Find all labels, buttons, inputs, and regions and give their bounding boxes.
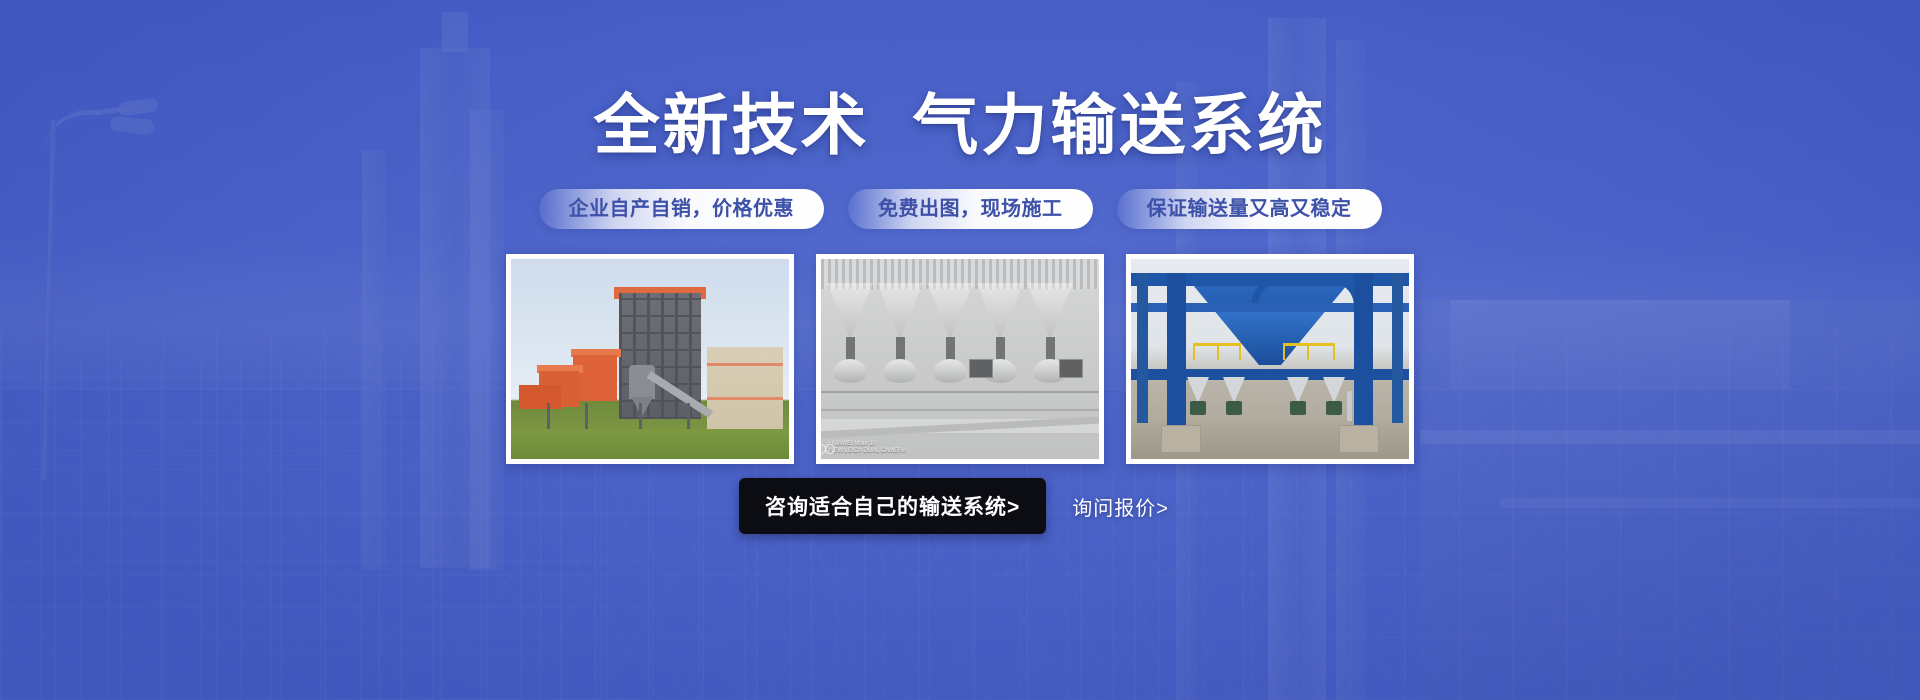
- p1-silo-cone: [631, 397, 653, 417]
- banner-content: 全新技术 气力输送系统 企业自产自销，价格优惠 免费出图，现场施工 保证输送量又…: [0, 0, 1920, 700]
- p3-yellow-post-5: [1307, 343, 1309, 360]
- request-quote-link[interactable]: 询问报价>: [1060, 479, 1181, 534]
- p2-handrail-lower: [821, 409, 1099, 411]
- leica-ring-icon-2: [825, 444, 835, 454]
- p2-send-vessel-3: [933, 359, 967, 383]
- p3-blue-column-left: [1167, 273, 1186, 425]
- p2-valve-1: [846, 337, 855, 361]
- p3-yellow-post-3: [1239, 343, 1241, 360]
- p3-yellow-post-4: [1283, 343, 1285, 360]
- feature-pill-row: 企业自产自销，价格优惠 免费出图，现场施工 保证输送量又高又稳定: [0, 189, 1920, 229]
- p2-hopper-2: [877, 283, 923, 339]
- p1-support-leg-4: [687, 403, 690, 429]
- p1-building-stripe-2: [707, 397, 783, 400]
- p2-send-vessel-1: [833, 359, 867, 383]
- p2-hopper-4: [977, 283, 1023, 339]
- p3-blue-column-right-outer: [1392, 273, 1403, 423]
- feature-pill-1[interactable]: 企业自产自销，价格优惠: [539, 189, 825, 229]
- p3-yellow-rail-right: [1283, 343, 1335, 346]
- p3-footing-left: [1161, 425, 1201, 453]
- p2-valve-4: [996, 337, 1005, 361]
- p2-send-vessel-2: [883, 359, 917, 383]
- p2-hopper-1: [827, 283, 873, 339]
- banner-headline: 全新技术 气力输送系统: [0, 92, 1920, 158]
- gallery-photo-2-image: HUAWEI Mate 10 NEW LEICA DUAL CAMERA: [821, 259, 1099, 459]
- consult-system-button[interactable]: 咨询适合自己的输送系统>: [739, 478, 1046, 534]
- p2-watermark-line-2: NEW LEICA DUAL CAMERA: [829, 448, 906, 455]
- p2-control-panel-2: [1059, 359, 1083, 378]
- feature-pill-2[interactable]: 免费出图，现场施工: [848, 189, 1093, 229]
- p2-valve-5: [1046, 337, 1055, 361]
- gallery-photo-1[interactable]: [506, 254, 794, 464]
- p2-hopper-3: [927, 283, 973, 339]
- p3-yellow-post-2: [1217, 343, 1219, 360]
- gallery-photo-1-image: [511, 259, 789, 459]
- p1-orange-hopper-1: [573, 355, 617, 401]
- p1-orange-hopper-3: [519, 385, 561, 409]
- p3-yellow-post-6: [1333, 343, 1335, 360]
- cta-row: 咨询适合自己的输送系统> 询问报价>: [0, 478, 1920, 534]
- photo-gallery: HUAWEI Mate 10 NEW LEICA DUAL CAMERA: [0, 254, 1920, 464]
- p2-watermark-line-1: HUAWEI Mate 10: [829, 441, 906, 448]
- gallery-photo-3-image: [1131, 259, 1409, 459]
- p3-discharge-cone-4: [1323, 377, 1345, 403]
- p2-valve-3: [946, 337, 955, 361]
- p3-yellow-post-1: [1193, 343, 1195, 360]
- p2-hopper-5: [1027, 283, 1073, 339]
- p3-motor-3: [1290, 401, 1306, 415]
- p3-blue-column-right: [1354, 273, 1373, 425]
- p1-support-leg-2: [585, 403, 588, 429]
- p3-motor-2: [1226, 401, 1242, 415]
- gallery-photo-2[interactable]: HUAWEI Mate 10 NEW LEICA DUAL CAMERA: [816, 254, 1104, 464]
- p2-camera-watermark: HUAWEI Mate 10 NEW LEICA DUAL CAMERA: [829, 441, 906, 455]
- p1-support-leg-1: [547, 403, 550, 429]
- gallery-photo-3[interactable]: [1126, 254, 1414, 464]
- p1-grass-field: [511, 429, 789, 459]
- p2-valve-2: [896, 337, 905, 361]
- hero-banner: 全新技术 气力输送系统 企业自产自销，价格优惠 免费出图，现场施工 保证输送量又…: [0, 0, 1920, 700]
- p3-motor-4: [1326, 401, 1342, 415]
- p3-discharge-cone-3: [1287, 377, 1309, 403]
- p2-control-panel-1: [969, 359, 993, 378]
- p3-blue-column-left-outer: [1137, 273, 1148, 423]
- p3-motor-1: [1190, 401, 1206, 415]
- p2-handrail-upper: [821, 391, 1099, 393]
- p1-support-leg-3: [639, 403, 642, 429]
- p3-pipe-2: [1347, 391, 1352, 421]
- feature-pill-3[interactable]: 保证输送量又高又稳定: [1117, 189, 1382, 229]
- p3-footing-right: [1339, 425, 1379, 453]
- p3-discharge-cone-2: [1223, 377, 1245, 403]
- p3-discharge-cone-1: [1187, 377, 1209, 403]
- p1-concrete-building: [707, 347, 783, 429]
- p1-building-stripe-1: [707, 363, 783, 366]
